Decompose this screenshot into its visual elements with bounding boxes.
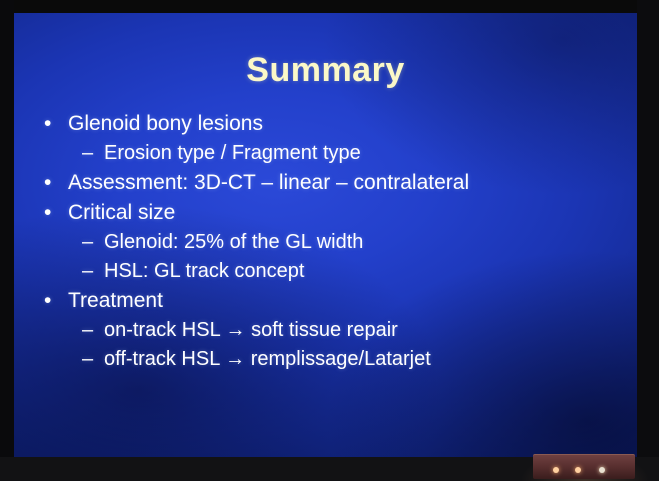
bullet-item: – Glenoid: 25% of the GL width	[44, 232, 617, 252]
room-border-right	[637, 0, 659, 481]
bullet-list: • Glenoid bony lesions – Erosion type / …	[44, 113, 617, 378]
bullet-text: HSL: GL track concept	[104, 261, 617, 281]
bullet-item: – off-track HSL → remplissage/Latarjet	[44, 349, 617, 369]
projected-slide: Summary • Glenoid bony lesions – Erosion…	[14, 13, 637, 457]
presentation-photo: Summary • Glenoid bony lesions – Erosion…	[0, 0, 659, 481]
bullet-item: – HSL: GL track concept	[44, 261, 617, 281]
bullet-marker: –	[82, 320, 104, 340]
bullet-marker: •	[44, 172, 68, 193]
bullet-text: Glenoid: 25% of the GL width	[104, 232, 617, 252]
bullet-text: Treatment	[68, 290, 617, 311]
bullet-marker: –	[82, 349, 104, 369]
slide-content: Summary • Glenoid bony lesions – Erosion…	[14, 13, 637, 457]
bullet-text: Glenoid bony lesions	[68, 113, 617, 134]
indicator-light-icon	[553, 467, 559, 473]
indicator-light-icon	[575, 467, 581, 473]
room-border-left	[0, 0, 14, 481]
bullet-item: • Treatment	[44, 290, 617, 311]
room-border-top	[0, 0, 659, 13]
indicator-light-icon	[599, 467, 605, 473]
bullet-text: Critical size	[68, 202, 617, 223]
slide-title: Summary	[14, 51, 637, 90]
bullet-item: • Critical size	[44, 202, 617, 223]
bullet-marker: –	[82, 261, 104, 281]
bullet-text: Erosion type / Fragment type	[104, 143, 617, 163]
bullet-text: Assessment: 3D-CT – linear – contralater…	[68, 172, 617, 193]
bullet-item: • Glenoid bony lesions	[44, 113, 617, 134]
bullet-text: off-track HSL → remplissage/Latarjet	[104, 349, 617, 369]
bullet-item: • Assessment: 3D-CT – linear – contralat…	[44, 172, 617, 193]
av-equipment	[533, 454, 635, 479]
bullet-marker: •	[44, 202, 68, 223]
bullet-marker: •	[44, 113, 68, 134]
bullet-item: – on-track HSL → soft tissue repair	[44, 320, 617, 340]
bullet-item: – Erosion type / Fragment type	[44, 143, 617, 163]
bullet-text: on-track HSL → soft tissue repair	[104, 320, 617, 340]
bullet-marker: –	[82, 232, 104, 252]
bullet-marker: –	[82, 143, 104, 163]
bullet-marker: •	[44, 290, 68, 311]
